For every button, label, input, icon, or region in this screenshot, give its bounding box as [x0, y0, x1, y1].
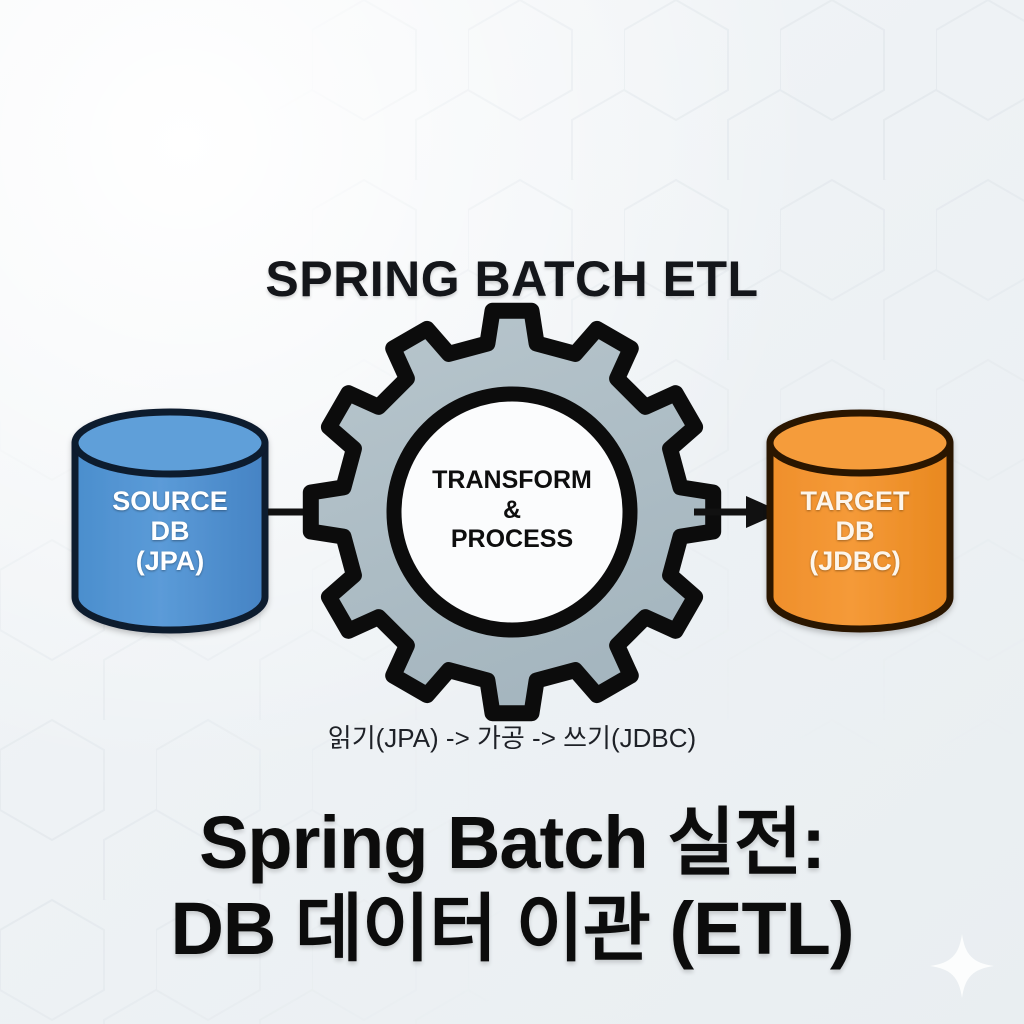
- flow-caption: 읽기(JPA) -> 가공 -> 쓰기(JDBC): [0, 718, 1024, 755]
- source-db-shape[interactable]: [75, 412, 265, 630]
- transform-gear-shape[interactable]: [311, 311, 713, 713]
- headline-line-1: Spring Batch 실전:: [0, 800, 1024, 886]
- headline-line-2: DB 데이터 이관 (ETL): [0, 886, 1024, 972]
- headline: Spring Batch 실전: DB 데이터 이관 (ETL): [0, 800, 1024, 972]
- target-db-shape[interactable]: [770, 413, 950, 629]
- slide-canvas: SPRING BATCH ETL: [0, 0, 1024, 1024]
